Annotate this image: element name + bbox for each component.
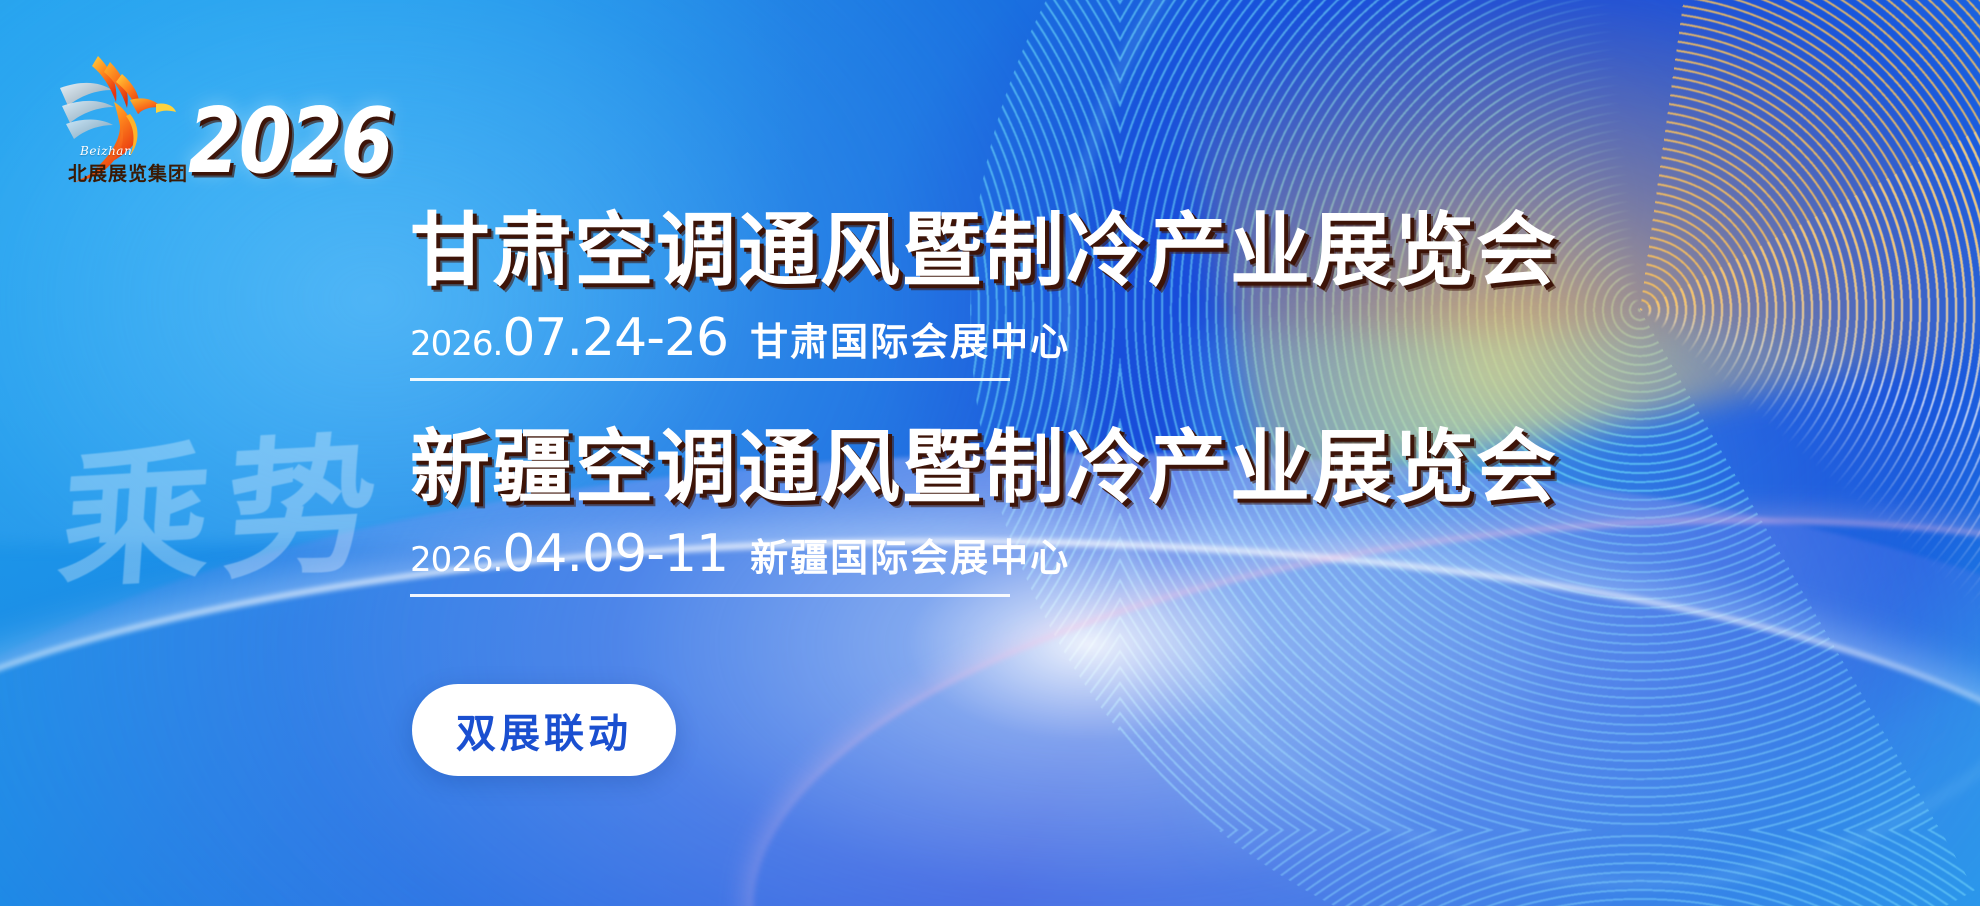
date-daymonth: 07.24-26: [502, 308, 728, 368]
exhibition-title: 新疆空调通风暨制冷产业展览会: [410, 427, 1590, 509]
exhibition-venue: 新疆国际会展中心: [750, 527, 1070, 582]
exhibition-entry-xinjiang: 新疆空调通风暨制冷产业展览会 2026.04.09-11 新疆国际会展中心: [410, 427, 1590, 598]
logo-english-name: Beizhan: [80, 144, 132, 158]
exhibition-date: 2026.04.09-11: [410, 524, 728, 584]
date-daymonth: 04.09-11: [502, 524, 728, 584]
dual-exhibition-pill-label: 双展联动: [456, 711, 632, 757]
exhibition-meta-row: 2026.04.09-11 新疆国际会展中心: [410, 524, 1010, 597]
exhibition-content: 甘肃空调通风暨制冷产业展览会 2026.07.24-26 甘肃国际会展中心 新疆…: [410, 210, 1590, 597]
exhibition-meta-row: 2026.07.24-26 甘肃国际会展中心: [410, 308, 1010, 381]
section-spacer: [410, 381, 1590, 427]
company-logo: Beizhan 北展展览集团: [52, 44, 182, 194]
exhibition-entry-gansu: 甘肃空调通风暨制冷产业展览会 2026.07.24-26 甘肃国际会展中心: [410, 210, 1590, 381]
date-year: 2026.: [410, 540, 502, 580]
calligraphy-watermark: 乘势: [54, 384, 399, 618]
exhibition-title: 甘肃空调通风暨制冷产业展览会: [410, 210, 1590, 292]
dual-exhibition-pill[interactable]: 双展联动: [412, 684, 676, 776]
date-year: 2026.: [410, 324, 502, 364]
exhibition-date: 2026.07.24-26: [410, 308, 728, 368]
year-badge: 2026: [188, 88, 392, 193]
logo-chinese-name: 北展展览集团: [68, 159, 188, 186]
exhibition-promo-banner: 乘势: [0, 0, 1980, 906]
exhibition-venue: 甘肃国际会展中心: [750, 311, 1070, 366]
